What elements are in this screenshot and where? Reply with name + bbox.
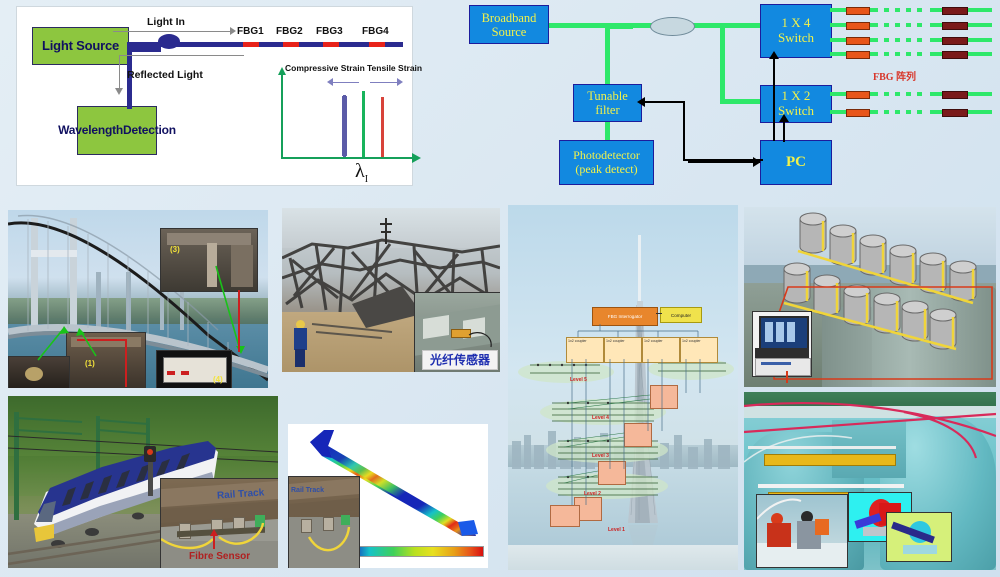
bridge-marker-3: (3) xyxy=(170,245,180,254)
stadium-worker-legs xyxy=(295,349,305,367)
tower-level-label-5: Level 5 xyxy=(570,377,587,383)
fbg-grating-near-icon xyxy=(846,109,870,117)
tensile-strain-arrow xyxy=(370,82,398,83)
control-line-photodetector-to-pc xyxy=(688,161,760,163)
fbg-grating-far-icon xyxy=(942,22,968,30)
tensile-arrowhead-icon xyxy=(397,78,403,86)
fibre-sensor-caption: Fibre Sensor xyxy=(189,551,250,562)
fbg-grating-near-icon xyxy=(846,51,870,59)
compressive-arrowhead-icon xyxy=(327,78,333,86)
spectrum-x-axis xyxy=(281,157,413,159)
reflected-light-label: Reflected Light xyxy=(127,69,203,81)
switch-1x2-box: 1 X 2 Switch xyxy=(760,85,832,123)
tower-network-wires xyxy=(508,205,738,570)
fbg-label-1: FBG1 xyxy=(237,26,264,37)
fbg-grating-3-icon xyxy=(323,42,339,47)
tower-foreground-promenade xyxy=(508,545,738,570)
fbg-array-row-6 xyxy=(830,110,1000,114)
arrowhead-to-filter-icon xyxy=(637,97,645,107)
fea-colour-scale-bar xyxy=(350,546,484,557)
fiber-to-1x2-switch xyxy=(720,99,765,104)
reflection-spectrum-chart: Compressive Strain Tensile Strain λI xyxy=(267,67,427,179)
pc-label: PC xyxy=(786,154,806,171)
tanks-top-monitor-screen xyxy=(759,316,809,350)
switch-1x2-label-1: 1 X 2 xyxy=(782,89,811,104)
photo-suspension-bridge-monitoring: (3) (1) (2) (4) xyxy=(8,210,268,388)
fbg-label-2: FBG2 xyxy=(276,26,303,37)
fbg-grating-far-icon xyxy=(942,109,968,117)
fiber-branch-right-vertical xyxy=(720,26,725,104)
optical-circulator-icon xyxy=(650,17,695,36)
control-line-pc-to-1x2 xyxy=(783,120,785,142)
compressive-strain-arrow xyxy=(331,82,359,83)
bridge-inset-1: (1) xyxy=(66,332,146,388)
fiber-drop-horizontal xyxy=(127,47,161,52)
wavelength-axis-label: λI xyxy=(355,160,368,185)
tunable-filter-label-1: Tunable xyxy=(587,89,628,103)
switch-1x4-label-2: Switch xyxy=(778,31,814,46)
light-in-arrow-line xyxy=(113,31,231,32)
switch-1x4-box: 1 X 4 Switch xyxy=(760,4,832,58)
bridge-red-leader-line xyxy=(238,290,240,352)
control-line-pc-to-filter-base xyxy=(683,159,763,161)
spectrum-peak-reference xyxy=(362,91,365,157)
tower-level-label-2: Level 2 xyxy=(584,491,601,497)
broadband-source-box: Broadband Source xyxy=(469,5,549,44)
fea-rail-photo-inset: Rail Track xyxy=(288,476,360,568)
fbg-grating-near-icon xyxy=(846,91,870,99)
fbg-array-row-2 xyxy=(830,23,1000,27)
spectrum-x-arrowhead-icon xyxy=(412,153,421,163)
stadium-worker-body xyxy=(294,328,307,350)
spectrum-peak-tensile xyxy=(381,97,384,157)
switch-1x4-label-1: 1 X 4 xyxy=(782,16,811,31)
broadband-source-label-1: Broadband xyxy=(482,11,537,25)
tanks-bottom-workers-inset xyxy=(756,494,848,568)
fbg-array-row-1 xyxy=(830,8,1000,12)
fbg-grating-far-icon xyxy=(942,7,968,15)
reflected-light-arrow-line xyxy=(119,55,244,56)
fbg-array-row-4 xyxy=(830,52,1000,56)
photodetector-box: Photodetector (peak detect) xyxy=(559,140,654,185)
tanks-bottom-cad-inset-2 xyxy=(886,512,952,562)
arrowhead-to-1x2-icon xyxy=(779,114,789,122)
photo-oil-storage-tanks-field-inspection xyxy=(744,392,996,570)
compressive-strain-label: Compressive Strain xyxy=(285,63,365,73)
lambda-symbol: λ xyxy=(355,160,365,182)
bridge-marker-1: (1) xyxy=(85,359,95,368)
fbg-grating-near-icon xyxy=(846,37,870,45)
spectrum-y-axis xyxy=(281,73,283,159)
train-signal-lamp xyxy=(147,449,153,455)
tanks-top-red-connector xyxy=(786,371,788,383)
reflected-light-arrowhead-icon xyxy=(115,88,123,95)
fbg-grating-far-icon xyxy=(942,51,968,59)
fbg-label-3: FBG3 xyxy=(316,26,343,37)
control-line-pc-to-1x4 xyxy=(773,57,775,141)
light-in-arrowhead-icon xyxy=(230,27,236,35)
lambda-subscript: I xyxy=(365,174,368,185)
fbg-grating-near-icon xyxy=(846,22,870,30)
light-source-label: Light Source xyxy=(42,39,119,54)
fbg-grating-far-icon xyxy=(942,91,968,99)
bridge-marker-4: (4) xyxy=(213,375,223,384)
fbg-grating-near-icon xyxy=(846,7,870,15)
photodetector-label-1: Photodetector xyxy=(573,149,640,162)
fbg-system-diagram: Broadband Source Tunable filter Photodet… xyxy=(455,0,1000,192)
photo-oil-storage-tank-array-top xyxy=(744,207,996,387)
tunable-filter-box: Tunable filter xyxy=(573,84,642,122)
rail-inset-pointer-arrowhead-icon xyxy=(210,529,218,536)
photo-metro-train-rail-monitoring: Rail Track Fibre Sensor xyxy=(8,396,278,568)
tensile-strain-label: Tensile Strain xyxy=(367,63,422,73)
fbg-array-label: FBG 阵列 xyxy=(873,68,916,83)
tower-level-label-3: Level 3 xyxy=(592,453,609,459)
tower-level-label-4: Level 4 xyxy=(592,415,609,421)
light-in-label: Light In xyxy=(147,16,185,28)
tanks-top-instrument-inset xyxy=(752,311,812,377)
fiber-branch-left xyxy=(605,24,633,29)
broadband-source-label-2: Source xyxy=(492,25,527,39)
fbg-grating-2-icon xyxy=(283,42,299,47)
photodetector-label-2: (peak detect) xyxy=(575,163,637,176)
photo-rail-finite-element-stress-plot: Rail Track xyxy=(288,424,488,568)
fbg-array-row-3 xyxy=(830,38,1000,42)
fbg-grating-1-icon xyxy=(243,42,259,47)
fbg-grating-far-icon xyxy=(942,37,968,45)
arrowhead-to-1x4-icon xyxy=(769,51,779,59)
light-source-box: Light Source xyxy=(32,27,129,65)
wavelength-detection-box: Wavelength Detection xyxy=(77,106,157,155)
fbg-array-row-5 xyxy=(830,92,1000,96)
tunable-filter-label-2: filter xyxy=(595,103,619,117)
spectrum-peak-compressive xyxy=(343,95,346,157)
tower-sub-coupler-1 xyxy=(550,505,580,527)
wavelength-detection-label-2: Detection xyxy=(123,124,176,138)
bridge-inset-3: (3) xyxy=(160,228,258,292)
stadium-caption: 光纤传感器 xyxy=(422,350,498,370)
pc-box: PC xyxy=(760,140,832,185)
control-line-pc-to-filter-vertical xyxy=(683,101,685,161)
fbg-grating-4-icon xyxy=(369,42,385,47)
fbg-label-4: FBG4 xyxy=(362,26,389,37)
photo-canton-tower-fbg-network: FBG Interrogator Computer 1x2 coupler 1x… xyxy=(508,205,738,570)
control-line-filter-horizontal xyxy=(645,101,685,103)
fbg-principle-diagram: Light Source Wavelength Detection FBG1 F… xyxy=(16,6,413,186)
optical-coupler-icon xyxy=(158,34,180,49)
train-rail-inset: Rail Track Fibre Sensor xyxy=(160,478,278,568)
bridge-inset-2: (2) xyxy=(8,356,70,388)
bridge-inset-4: (4) xyxy=(156,350,232,388)
wavelength-detection-label-1: Wavelength xyxy=(58,124,123,138)
tower-level-label-1: Level 1 xyxy=(608,527,625,533)
photo-collapsed-steel-structure: 光纤传感器 xyxy=(282,208,500,372)
reflected-light-arrow-vertical xyxy=(119,55,120,89)
fea-inset-rail-track-caption: Rail Track xyxy=(291,487,324,494)
